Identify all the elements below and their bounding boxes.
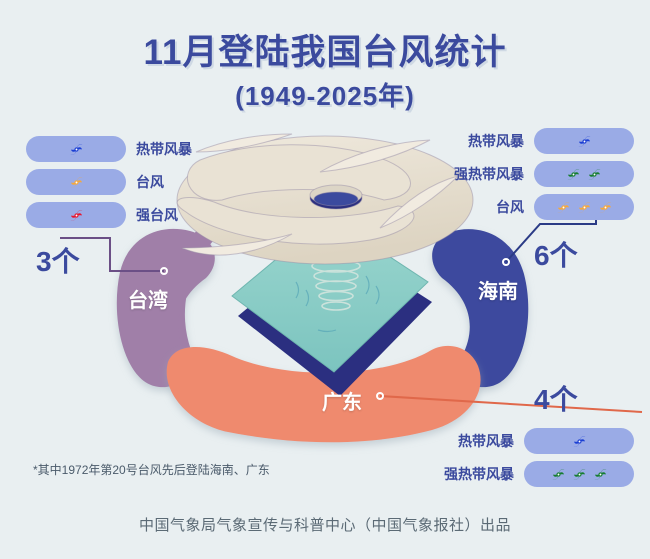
infographic-canvas: 11月登陆我国台风统计 (1949-2025年): [0, 0, 650, 559]
cyclone-icon: [570, 432, 589, 451]
legend-pill: [524, 461, 634, 487]
legend-pill: [26, 169, 126, 195]
legend-label: 热带风暴: [468, 131, 524, 151]
page-subtitle: (1949-2025年): [0, 76, 650, 113]
region-label-hainan: 海南: [478, 275, 518, 304]
count-hainan: 6个: [534, 234, 578, 274]
legend-row: 台风: [496, 194, 634, 220]
footnote: *其中1972年第20号台风先后登陆海南、广东: [33, 461, 270, 478]
legend-label: 热带风暴: [136, 139, 192, 159]
region-marker-taiwan: [160, 267, 168, 275]
cyclone-icon: [554, 198, 573, 217]
legend-label: 热带风暴: [458, 431, 514, 451]
cyclone-icon: [575, 132, 594, 151]
cyclone-icon: [575, 198, 594, 217]
legend-pill: [534, 161, 634, 187]
legend-taiwan: 热带风暴台风强台风: [26, 136, 192, 235]
cyclone-icon: [67, 173, 86, 192]
region-label-taiwan: 台湾: [128, 284, 168, 313]
cyclone-icon: [585, 165, 604, 184]
legend-row: 强台风: [26, 202, 192, 228]
count-guangdong: 4个: [534, 378, 578, 418]
cyclone-icon: [596, 198, 615, 217]
legend-pill: [26, 202, 126, 228]
legend-pill: [534, 128, 634, 154]
connector-guangdong: [380, 396, 642, 412]
legend-label: 台风: [136, 172, 164, 192]
cyclone-icon: [591, 465, 610, 484]
credit-line: 中国气象局气象宣传与科普中心（中国气象报社）出品: [0, 514, 650, 535]
arc-hainan: [432, 229, 528, 387]
legend-label: 强热带风暴: [444, 464, 514, 484]
cyclone-icon: [549, 465, 568, 484]
legend-label: 强热带风暴: [454, 164, 524, 184]
legend-label: 强台风: [136, 205, 178, 225]
legend-pill: [524, 428, 634, 454]
count-taiwan: 3个: [36, 240, 80, 280]
region-marker-hainan: [502, 258, 510, 266]
ocean-plate: [232, 216, 432, 396]
legend-hainan: 热带风暴强热带风暴台风: [454, 128, 634, 227]
page-title: 11月登陆我国台风统计: [0, 24, 650, 75]
legend-row: 热带风暴: [468, 128, 634, 154]
legend-row: 台风: [26, 169, 192, 195]
legend-row: 热带风暴: [26, 136, 192, 162]
legend-row: 强热带风暴: [454, 161, 634, 187]
legend-pill: [26, 136, 126, 162]
legend-guangdong: 热带风暴强热带风暴: [444, 428, 634, 494]
region-marker-guangdong: [376, 392, 384, 400]
cyclone-icon: [67, 140, 86, 159]
legend-row: 强热带风暴: [444, 461, 634, 487]
cyclone-icon: [67, 206, 86, 225]
legend-pill: [534, 194, 634, 220]
region-label-guangdong: 广东: [322, 386, 362, 415]
cyclone-icon: [570, 465, 589, 484]
legend-label: 台风: [496, 197, 524, 217]
typhoon-cloud: [177, 134, 473, 264]
cyclone-icon: [564, 165, 583, 184]
legend-row: 热带风暴: [458, 428, 634, 454]
